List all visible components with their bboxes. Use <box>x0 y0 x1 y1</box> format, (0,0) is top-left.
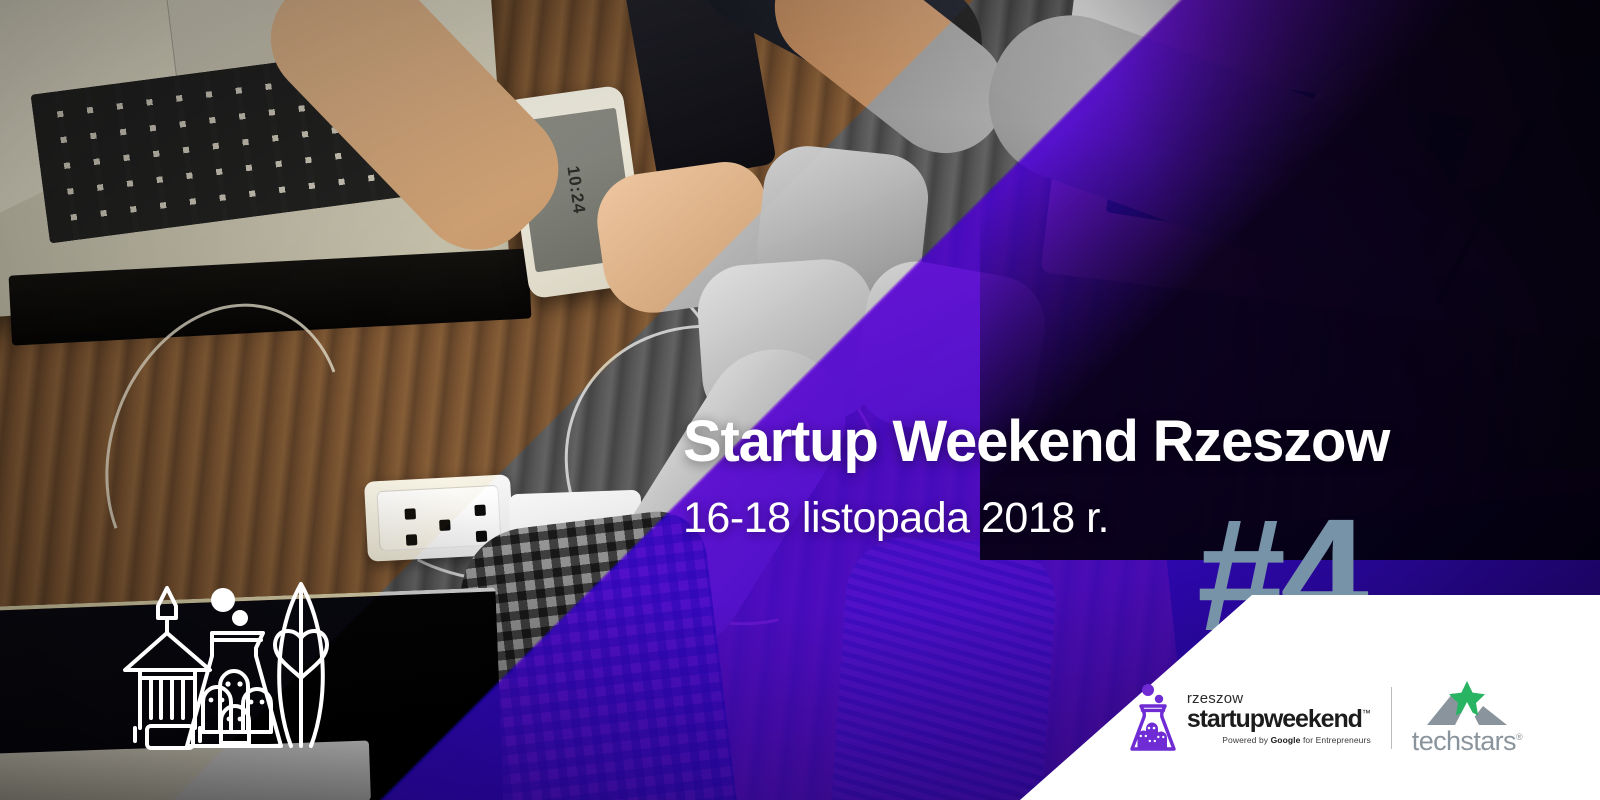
startup-weekend-name: startupweekend <box>1187 707 1362 732</box>
startup-weekend-flask-icon <box>1128 683 1178 753</box>
google-brand: Google <box>1271 735 1301 745</box>
startup-weekend-wordmark: rzeszow startupweekend ™ Powered by Goog… <box>1187 691 1371 745</box>
powered-by-line: Powered by Google for Entrepreneurs <box>1187 736 1371 745</box>
techstars-mountain-star-icon <box>1421 681 1513 727</box>
registered-symbol: ® <box>1516 732 1522 742</box>
event-banner: 10:24 <box>0 0 1600 800</box>
page-title: Startup Weekend Rzeszow <box>683 412 1389 473</box>
event-date: 16-18 listopada 2018 r. <box>683 494 1109 543</box>
startup-weekend-city: rzeszow <box>1187 691 1371 706</box>
powered-suffix: for Entrepreneurs <box>1300 735 1370 745</box>
startup-weekend-logo[interactable]: rzeszow startupweekend ™ Powered by Goog… <box>1128 683 1371 753</box>
sponsor-logos: rzeszow startupweekend ™ Powered by Goog… <box>1128 681 1522 755</box>
trademark-symbol: ™ <box>1362 709 1371 718</box>
techstars-wordmark: techstars® <box>1412 728 1522 755</box>
rzeszow-landmarks-line-art <box>95 578 335 773</box>
logo-divider <box>1391 687 1392 749</box>
techstars-logo[interactable]: techstars® <box>1412 681 1522 755</box>
powered-prefix: Powered by <box>1222 735 1270 745</box>
